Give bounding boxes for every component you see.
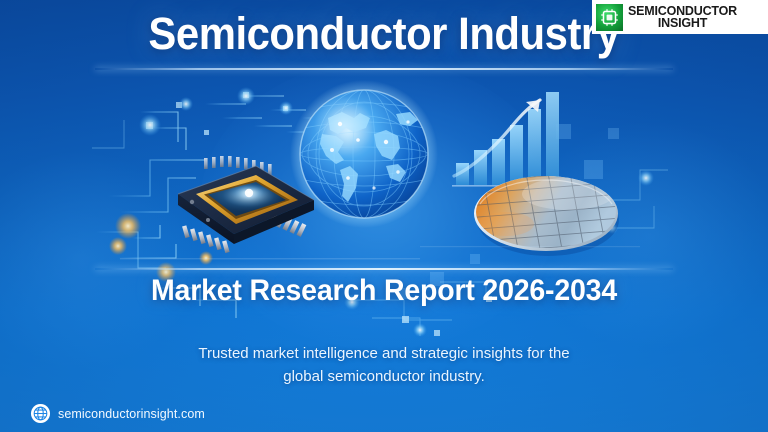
tagline: Trusted market intelligence and strategi…	[134, 342, 634, 389]
silicon-wafer-illustration	[472, 168, 620, 256]
logo-text: SEMICONDUCTOR INSIGHT	[628, 5, 737, 30]
background-glow-left	[0, 150, 200, 370]
chip-icon	[596, 4, 623, 31]
footer[interactable]: semiconductorinsight.com	[30, 403, 205, 424]
globe-icon	[30, 403, 51, 424]
divider-bottom	[95, 268, 673, 270]
tagline-line-2: global semiconductor industry.	[134, 365, 634, 388]
banner-graphic: Semiconductor Industry Market Research R…	[0, 0, 768, 432]
website-url: semiconductorinsight.com	[58, 407, 205, 421]
microchip-illustration	[148, 150, 328, 262]
brand-logo[interactable]: SEMICONDUCTOR INSIGHT	[592, 0, 768, 34]
background-glow-right	[520, 120, 768, 350]
divider-top	[95, 68, 673, 70]
report-subtitle: Market Research Report 2026-2034	[19, 274, 749, 308]
growth-bar-chart-illustration	[452, 92, 570, 192]
tagline-line-1: Trusted market intelligence and strategi…	[134, 342, 634, 365]
digital-globe-illustration	[288, 78, 440, 230]
logo-line-2: INSIGHT	[628, 17, 737, 30]
